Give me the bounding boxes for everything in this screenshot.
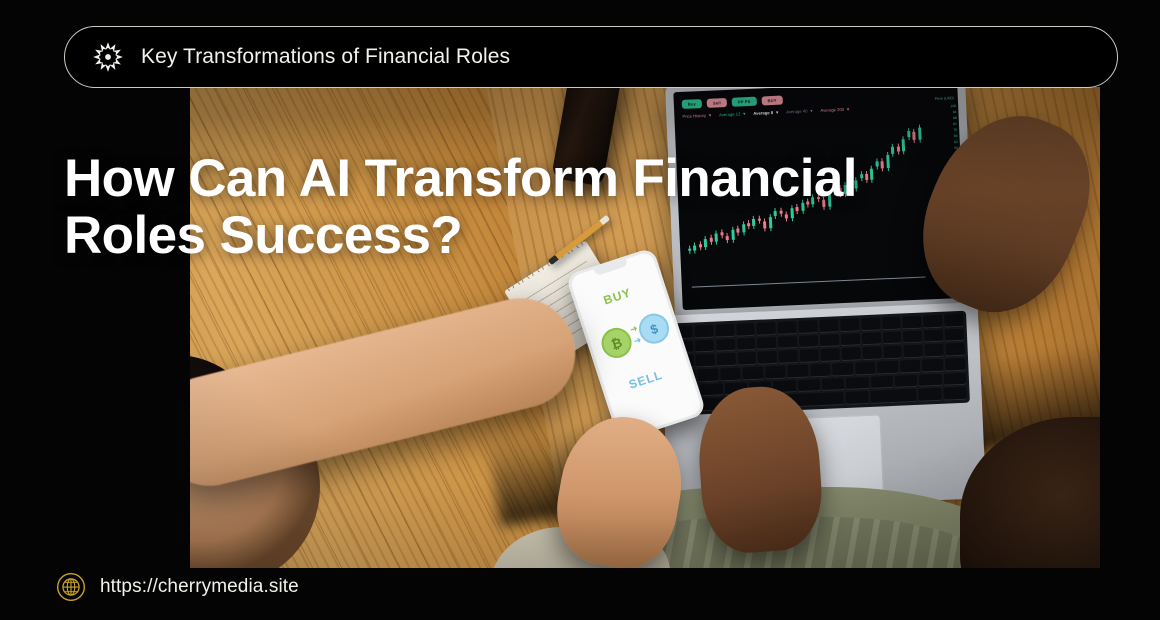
- keyboard-key[interactable]: [882, 331, 901, 344]
- keyboard-key[interactable]: [862, 332, 881, 345]
- keyboard-key[interactable]: [737, 352, 756, 365]
- dropdown-label: Price History: [682, 113, 706, 119]
- keyboard-key[interactable]: [778, 321, 797, 334]
- keyboard-key[interactable]: [861, 317, 880, 330]
- toolbar-button[interactable]: PP PS: [732, 97, 757, 107]
- site-url[interactable]: https://cherrymedia.site: [100, 576, 299, 598]
- keyboard-key[interactable]: [757, 322, 776, 335]
- keyboard-key[interactable]: [736, 323, 755, 336]
- poster-canvas: Buy Sell PP PS BUY Price History▼ Averag…: [0, 0, 1160, 620]
- keyboard-key[interactable]: [877, 361, 898, 375]
- toolbar-button[interactable]: Buy: [682, 99, 703, 109]
- keyboard-key[interactable]: [943, 372, 966, 386]
- price-tick: 100: [950, 104, 956, 108]
- keyboard-key[interactable]: [799, 335, 818, 348]
- keyboard-key[interactable]: [820, 334, 839, 347]
- price-tick: 63: [954, 140, 958, 144]
- candlestick: [918, 127, 922, 140]
- keyboard-key[interactable]: [919, 373, 942, 387]
- chart-dropdown-row: Price History▼ Average 12▼ Average 8▼ Av…: [682, 107, 850, 119]
- keyboard-key[interactable]: [870, 376, 893, 390]
- globe-icon: [56, 572, 86, 602]
- laptop-keyboard[interactable]: [670, 311, 970, 416]
- chevron-down-icon: ▼: [742, 111, 746, 116]
- keyboard-key[interactable]: [904, 345, 923, 358]
- keyboard-key[interactable]: [882, 317, 901, 330]
- price-tick: 94: [953, 110, 957, 114]
- keyboard-key[interactable]: [883, 346, 902, 359]
- keyboard-key[interactable]: [922, 359, 943, 373]
- sparkle-burst-icon: [91, 40, 125, 74]
- chart-toolbar: Buy Sell PP PS BUY: [682, 96, 783, 109]
- chart-dropdown[interactable]: Average 40▼: [786, 108, 814, 114]
- keyboard-key[interactable]: [900, 360, 921, 374]
- keyboard-key[interactable]: [765, 366, 786, 380]
- chevron-down-icon: ▼: [809, 108, 813, 113]
- toolbar-button[interactable]: Sell: [707, 98, 727, 108]
- keyboard-key[interactable]: [715, 324, 734, 337]
- keyboard-key[interactable]: [798, 320, 817, 333]
- keyboard-key[interactable]: [845, 391, 869, 405]
- candlestick: [912, 132, 915, 141]
- keyboard-key[interactable]: [855, 362, 876, 376]
- price-tick: 81: [953, 122, 957, 126]
- chevron-down-icon: ▼: [846, 107, 850, 112]
- keyboard-key[interactable]: [895, 375, 918, 389]
- keyboard-key[interactable]: [800, 349, 819, 362]
- keyboard-key[interactable]: [698, 369, 719, 383]
- dropdown-label: Average 200: [820, 107, 844, 113]
- headline-line-2: Roles Success?: [64, 207, 1024, 264]
- keyboard-key[interactable]: [841, 333, 860, 346]
- keyboard-key[interactable]: [757, 337, 776, 350]
- keyboard-key[interactable]: [695, 339, 714, 352]
- sell-label: SELL: [627, 368, 664, 392]
- keyboard-key[interactable]: [821, 349, 840, 362]
- keyboard-key[interactable]: [944, 314, 963, 327]
- keyboard-key[interactable]: [778, 336, 797, 349]
- chart-dropdown[interactable]: Average 8▼: [753, 110, 779, 116]
- keyboard-key[interactable]: [923, 315, 942, 328]
- keyboard-key[interactable]: [903, 330, 922, 343]
- keyboard-key[interactable]: [918, 388, 942, 402]
- keyboard-key[interactable]: [945, 358, 966, 372]
- keyboard-key[interactable]: [924, 329, 943, 342]
- keyboard-key[interactable]: [716, 338, 735, 351]
- chart-dropdown[interactable]: Average 12▼: [719, 111, 747, 117]
- keyboard-key[interactable]: [903, 316, 922, 329]
- keyboard-key[interactable]: [810, 364, 831, 378]
- page-title: Key Transformations of Financial Roles: [141, 45, 510, 69]
- keyboard-key[interactable]: [743, 367, 764, 381]
- dropdown-label: Average 12: [719, 111, 741, 117]
- keyboard-key[interactable]: [846, 377, 869, 391]
- keyboard-key[interactable]: [946, 343, 965, 356]
- keyboard-key[interactable]: [841, 348, 860, 361]
- keyboard-key[interactable]: [695, 354, 714, 367]
- keyboard-key[interactable]: [819, 319, 838, 332]
- header-pill[interactable]: Key Transformations of Financial Roles: [64, 26, 1118, 88]
- price-tick: 88: [953, 116, 957, 120]
- keyboard-key[interactable]: [716, 353, 735, 366]
- keyboard-key[interactable]: [788, 365, 809, 379]
- chevron-down-icon: ▼: [708, 113, 712, 118]
- price-tick: 75: [953, 128, 957, 132]
- headline: How Can AI Transform Financial Roles Suc…: [64, 150, 1024, 264]
- dropdown-label: Average 40: [786, 108, 808, 114]
- chart-axis-title: Price (USD): [935, 96, 954, 101]
- candlestick: [907, 131, 910, 137]
- chart-dropdown[interactable]: Price History▼: [682, 113, 712, 119]
- keyboard-key[interactable]: [862, 347, 881, 360]
- buy-label: BUY: [602, 285, 633, 307]
- chevron-down-icon: ▼: [775, 110, 779, 115]
- keyboard-key[interactable]: [737, 338, 756, 351]
- keyboard-key[interactable]: [870, 389, 917, 404]
- chart-dropdown[interactable]: Average 200▼: [820, 107, 850, 113]
- footer: https://cherrymedia.site: [56, 572, 299, 602]
- keyboard-key[interactable]: [945, 328, 964, 341]
- keyboard-key[interactable]: [720, 368, 741, 382]
- keyboard-key[interactable]: [822, 378, 845, 392]
- toolbar-button[interactable]: BUY: [761, 96, 782, 106]
- keyboard-key[interactable]: [925, 344, 944, 357]
- headline-line-1: How Can AI Transform Financial: [64, 150, 1024, 207]
- keyboard-key[interactable]: [694, 325, 713, 338]
- keyboard-key[interactable]: [943, 387, 967, 401]
- keyboard-key[interactable]: [700, 383, 723, 397]
- keyboard-key[interactable]: [832, 363, 853, 377]
- dropdown-label: Average 8: [753, 110, 773, 116]
- keyboard-key[interactable]: [840, 318, 859, 331]
- keyboard-key[interactable]: [779, 350, 798, 363]
- keyboard-key[interactable]: [797, 379, 820, 393]
- keyboard-key[interactable]: [758, 351, 777, 364]
- price-tick: 69: [954, 134, 958, 138]
